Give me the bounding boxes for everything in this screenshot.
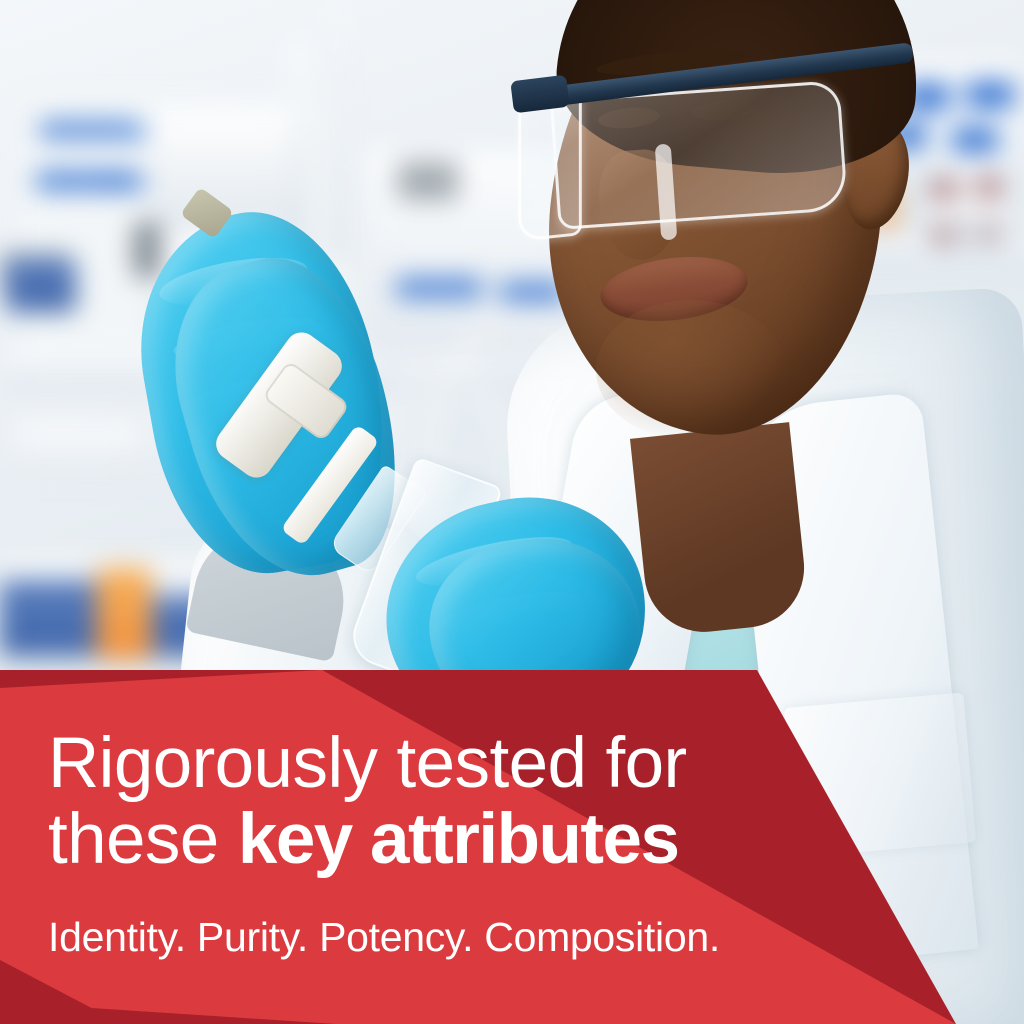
shelf-label-4	[104, 174, 144, 190]
safety-glasses-hinge	[510, 75, 569, 114]
chin-highlight	[596, 300, 786, 440]
bench-item-1	[12, 420, 144, 480]
safety-glasses	[500, 40, 920, 250]
marketing-banner-image: Rigorously tested for these key attribut…	[0, 0, 1024, 1024]
subheadline: Identity. Purity. Potency. Composition.	[48, 914, 948, 960]
headline-line-2: these key attributes	[48, 802, 948, 878]
reagent-bottle-cap-3	[952, 128, 998, 152]
shelf-rail-upper	[330, 0, 344, 260]
headline-line-2-light: these	[48, 800, 238, 879]
amber-reagent-bottle	[96, 568, 152, 660]
headline-line-1: Rigorously tested for	[48, 726, 948, 802]
center-equipment-dark	[398, 162, 458, 200]
storage-box-blue-left	[6, 258, 76, 312]
equipment-silhouette-1	[134, 222, 160, 278]
center-panel-label	[396, 278, 482, 298]
right-shelf-label-card	[924, 196, 1010, 232]
headline-line-2-bold: key attributes	[238, 800, 679, 879]
shelf-label-2	[118, 126, 146, 140]
safety-glasses-lens	[550, 80, 848, 230]
reagent-bottle-cap-2	[966, 82, 1014, 108]
banner-text-block: Rigorously tested for these key attribut…	[48, 726, 948, 960]
safety-glasses-side-shield	[518, 94, 582, 241]
neck	[630, 422, 810, 638]
headline: Rigorously tested for these key attribut…	[48, 726, 948, 878]
